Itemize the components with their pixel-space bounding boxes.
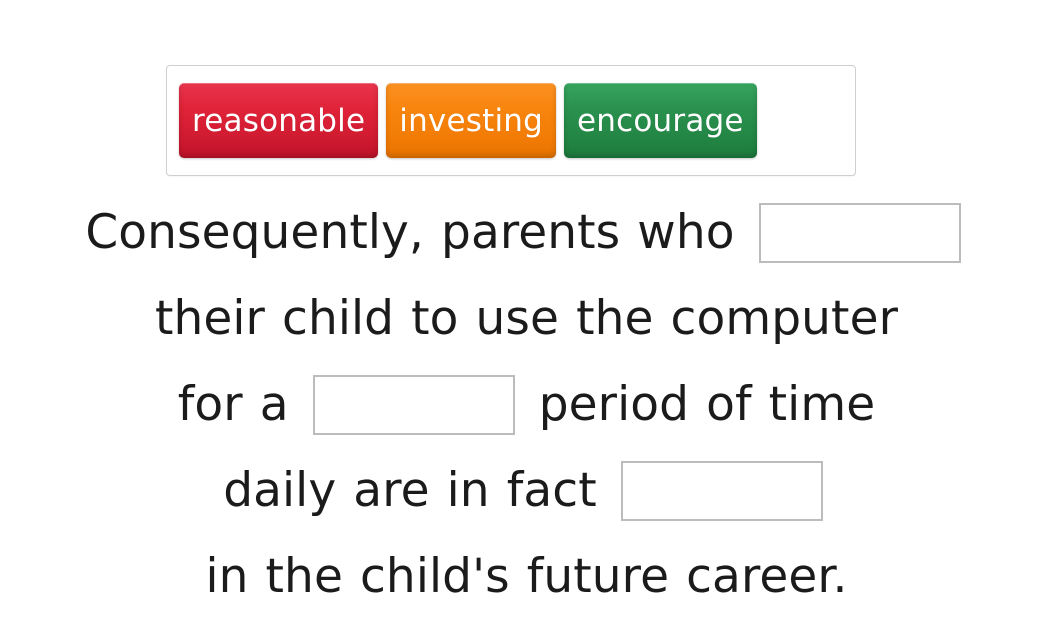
sentence-segment: daily are in fact xyxy=(223,463,597,518)
sentence-segment: Consequently, parents who xyxy=(85,205,734,260)
sentence-segment: in the child's future career. xyxy=(205,549,847,604)
word-bank-tray: reasonable investing encourage xyxy=(166,65,856,176)
word-tile-reasonable[interactable]: reasonable xyxy=(179,83,378,158)
drop-blank-3[interactable] xyxy=(621,461,823,521)
sentence-line-4: daily are in fact xyxy=(0,448,1053,534)
sentence-line-2: their child to use the computer xyxy=(0,276,1053,362)
word-tile-encourage[interactable]: encourage xyxy=(564,83,757,158)
sentence-segment: period of time xyxy=(539,377,876,432)
drop-blank-1[interactable] xyxy=(759,203,961,263)
sentence-segment: for a xyxy=(178,377,289,432)
sentence-segment: their child to use the computer xyxy=(155,291,898,346)
sentence-line-1: Consequently, parents who xyxy=(0,190,1053,276)
drop-blank-2[interactable] xyxy=(313,375,515,435)
sentence-line-5: in the child's future career. xyxy=(0,534,1053,620)
word-tile-investing[interactable]: investing xyxy=(386,83,556,158)
sentence-text: Consequently, parents who their child to… xyxy=(0,190,1053,620)
sentence-line-3: for a period of time xyxy=(0,362,1053,448)
fill-in-the-blank-exercise: reasonable investing encourage Consequen… xyxy=(0,0,1053,644)
